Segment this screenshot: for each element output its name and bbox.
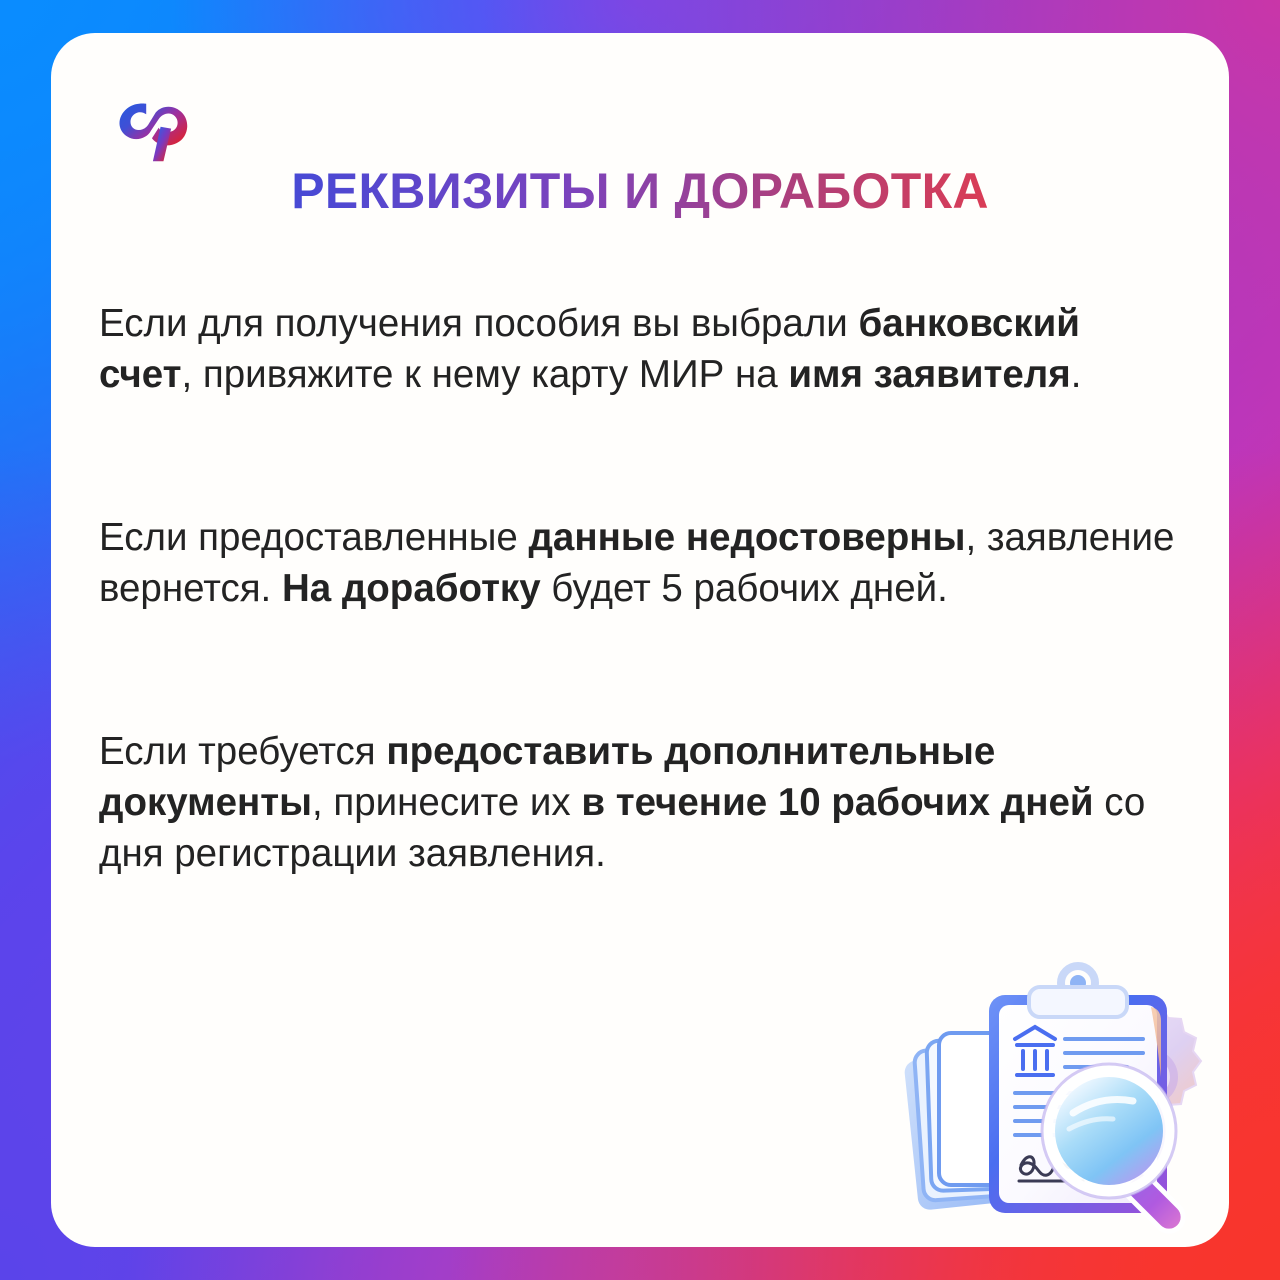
paragraph-invalid-data: Если предоставленные данные недостоверны… <box>99 512 1181 614</box>
clipboard-documents-magnifier-gear-illustration <box>893 951 1223 1247</box>
body-text: Если для получения пособия вы выбрали ба… <box>99 298 1181 879</box>
text-run: Если требуется <box>99 730 386 773</box>
text-run: , привяжите к нему карту МИР на <box>182 353 789 396</box>
sfr-logo <box>103 75 199 167</box>
page-title: РЕКВИЗИТЫ И ДОРАБОТКА <box>51 164 1229 219</box>
text-run: . <box>1071 353 1082 396</box>
text-run: Если для получения пособия вы выбрали <box>99 302 859 345</box>
clipboard-clip <box>1029 966 1127 1017</box>
text-run-bold: данные недостоверны <box>528 516 965 559</box>
text-run: , принесите их <box>312 781 581 824</box>
paragraph-extra-documents: Если требуется предоставить дополнительн… <box>99 726 1181 879</box>
text-run-bold: в течение 10 рабочих дней <box>581 781 1093 824</box>
info-card: РЕКВИЗИТЫ И ДОРАБОТКА Если для получения… <box>51 33 1229 1247</box>
text-run: Если предоставленные <box>99 516 528 559</box>
text-run: будет 5 рабочих дней. <box>541 567 948 610</box>
text-run-bold: На доработку <box>282 567 541 610</box>
paragraph-bank-account: Если для получения пособия вы выбрали ба… <box>99 298 1181 400</box>
text-run-bold: имя заявителя <box>788 353 1070 396</box>
